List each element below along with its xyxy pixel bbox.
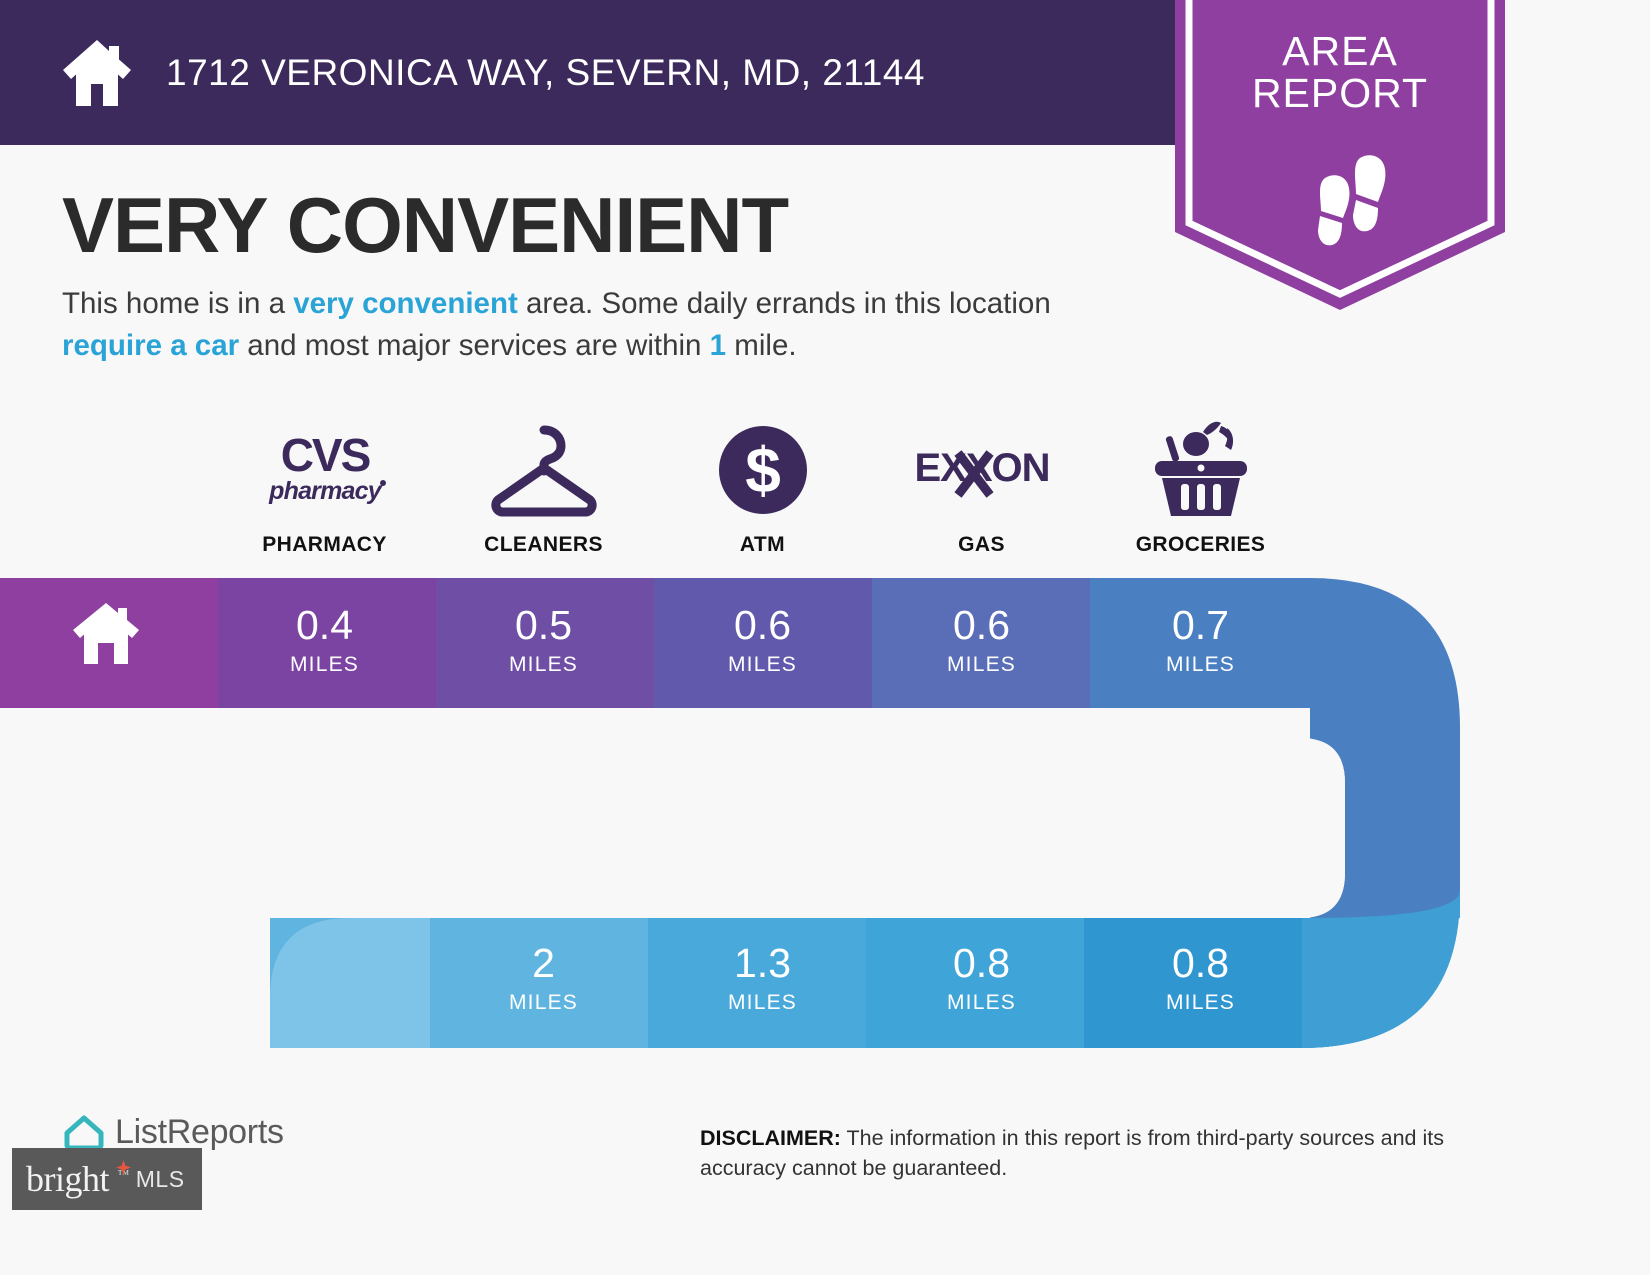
dollar-circle-icon: $: [715, 418, 811, 522]
disclaimer-label: DISCLAIMER:: [700, 1126, 841, 1150]
listreports-logo: ListReports: [62, 1112, 284, 1152]
distance-snake-chart: [0, 578, 1460, 1048]
badge-line-1: AREA: [1175, 30, 1505, 72]
service-label: CLEANERS: [484, 533, 603, 557]
service-label: GROCERIES: [1136, 533, 1266, 557]
svg-text:pharmacy: pharmacy: [268, 477, 383, 505]
header-bar: 1712 VERONICA WAY, SEVERN, MD, 21144: [0, 0, 1180, 145]
snake-seg-medical: [648, 918, 866, 1048]
badge-line-2: REPORT: [1175, 72, 1505, 114]
snake-seg-movie: [430, 918, 648, 1048]
area-report-badge: AREA REPORT: [1175, 0, 1505, 310]
property-address: 1712 VERONICA WAY, SEVERN, MD, 21144: [166, 52, 925, 94]
snake-seg-groceries: [1090, 578, 1308, 708]
service-icon-gas: EXXON GAS: [872, 418, 1091, 557]
snake-seg-cleaners: [436, 578, 654, 708]
badge-label: AREA REPORT: [1175, 30, 1505, 114]
service-icon-atm: $ ATM: [653, 418, 872, 557]
disclaimer: DISCLAIMER: The information in this repo…: [700, 1124, 1510, 1183]
snake-seg-pharmacy: [218, 578, 436, 708]
snake-seg-gas: [872, 578, 1090, 708]
desc-part-1: This home is in a: [62, 287, 293, 320]
desc-part-4: mile.: [726, 329, 796, 362]
cvs-pharmacy-logo: CVS pharmacy: [259, 418, 391, 522]
listreports-name: ListReports: [115, 1113, 284, 1152]
snake-seg-gym: [866, 918, 1084, 1048]
desc-part-3: and most major services are within: [239, 329, 710, 362]
service-label: ATM: [740, 533, 785, 557]
desc-highlight-1: very convenient: [293, 287, 518, 320]
description-text: This home is in a very convenient area. …: [62, 283, 1122, 367]
brightmls-logo: bright ™ MLS: [12, 1148, 202, 1210]
desc-highlight-3: 1: [710, 329, 726, 362]
service-icon-row-top: CVS pharmacy PHARMACY CLEANERS $: [215, 418, 1310, 557]
service-icon-cleaners: CLEANERS: [434, 418, 653, 557]
clothes-hanger-icon: [485, 418, 603, 522]
service-label: PHARMACY: [262, 533, 387, 557]
page-title: VERY CONVENIENT: [62, 186, 788, 264]
listreports-house-icon: [62, 1112, 106, 1152]
desc-part-2: area. Some daily errands in this locatio…: [518, 287, 1051, 320]
snake-seg-coffee: [1084, 918, 1302, 1048]
bar-home-icon: [70, 600, 142, 666]
brightmls-mls-text: MLS: [136, 1166, 185, 1193]
desc-highlight-2: require a car: [62, 329, 239, 362]
svg-text:CVS: CVS: [280, 429, 369, 481]
brightmls-bright-text: bright: [26, 1159, 109, 1199]
snake-seg-atm: [654, 578, 872, 708]
service-icon-pharmacy: CVS pharmacy PHARMACY: [215, 418, 434, 557]
svg-text:$: $: [745, 434, 781, 506]
area-report-page: 1712 VERONICA WAY, SEVERN, MD, 21144 ARE…: [0, 0, 1650, 1275]
service-icon-groceries: GROCERIES: [1091, 418, 1310, 557]
star-icon: [116, 1160, 131, 1175]
brightmls-wordmark: bright ™: [26, 1158, 129, 1200]
exxon-logo: EXXON: [910, 418, 1054, 522]
home-icon: [58, 37, 136, 109]
grocery-basket-icon: [1149, 418, 1253, 522]
service-label: GAS: [958, 533, 1005, 557]
